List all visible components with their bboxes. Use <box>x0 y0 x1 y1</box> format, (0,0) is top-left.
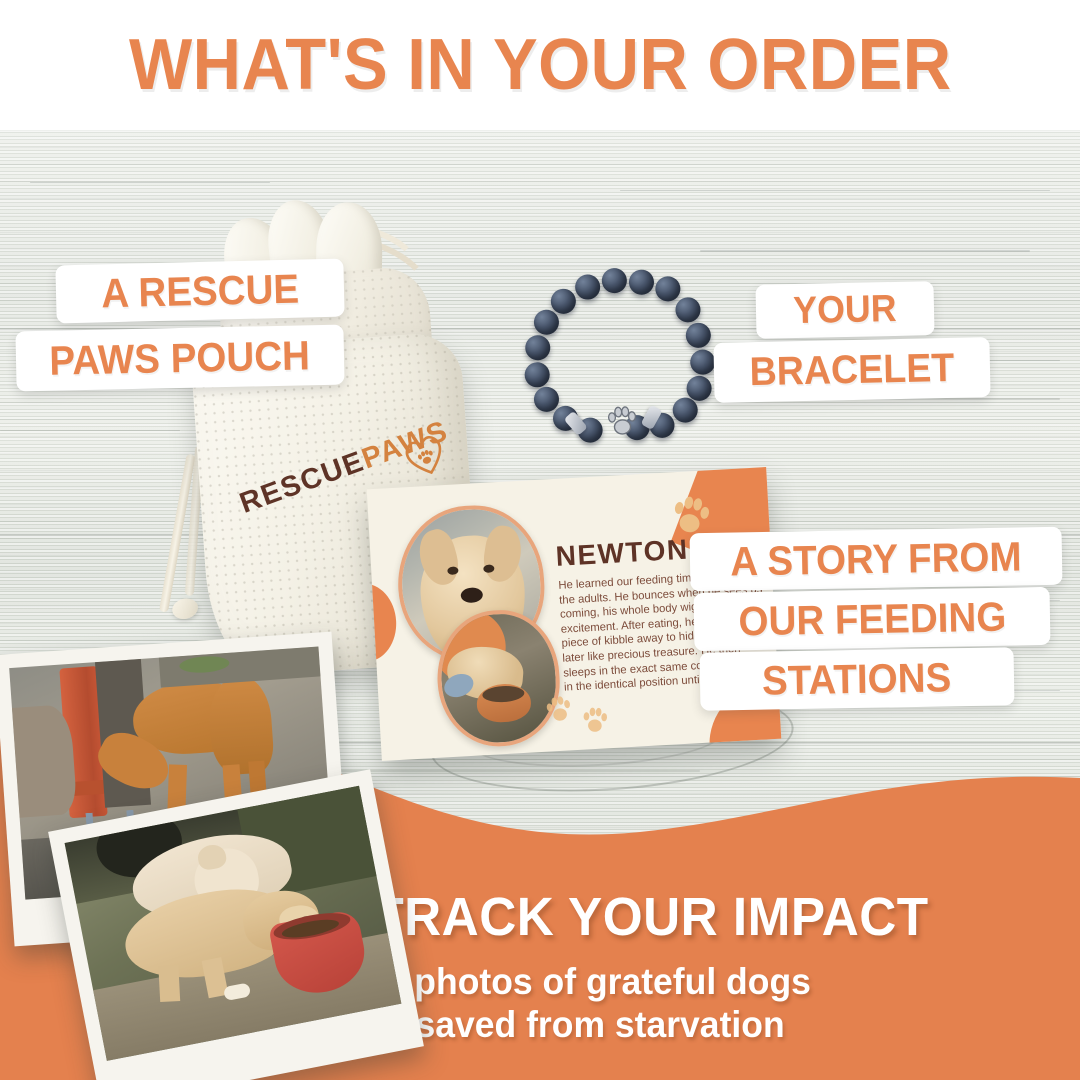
story-card-title: NEWTON <box>555 534 690 573</box>
callout-bracelet-line1: YOUR <box>755 281 934 339</box>
callout-story-line3-text: STATIONS <box>762 654 952 704</box>
callout-story-line2: OUR FEEDING <box>694 587 1051 651</box>
page-title: WHAT'S IN YOUR ORDER <box>129 29 952 101</box>
order-contents-poster: WHAT'S IN YOUR ORDER <box>0 0 1080 1080</box>
callout-pouch-line2: PAWS POUCH <box>15 325 344 392</box>
callout-story-line1: A STORY FROM <box>690 527 1063 591</box>
callout-bracelet-line2: BRACELET <box>713 337 990 403</box>
callout-pouch-line1: A RESCUE <box>55 258 344 323</box>
callout-story-line3: STATIONS <box>700 647 1015 710</box>
paw-bracelet <box>519 265 718 455</box>
callout-pouch-line1-text: A RESCUE <box>101 265 300 317</box>
callout-pouch-line2-text: PAWS POUCH <box>49 332 310 384</box>
callout-story-line2-text: OUR FEEDING <box>738 593 1006 645</box>
callout-bracelet-line1-text: YOUR <box>793 287 897 332</box>
callout-story-line1-text: A STORY FROM <box>730 533 1022 585</box>
callout-bracelet-line2-text: BRACELET <box>749 345 955 394</box>
poster-header: WHAT'S IN YOUR ORDER <box>0 0 1080 130</box>
paw-charm-icon <box>603 402 641 438</box>
